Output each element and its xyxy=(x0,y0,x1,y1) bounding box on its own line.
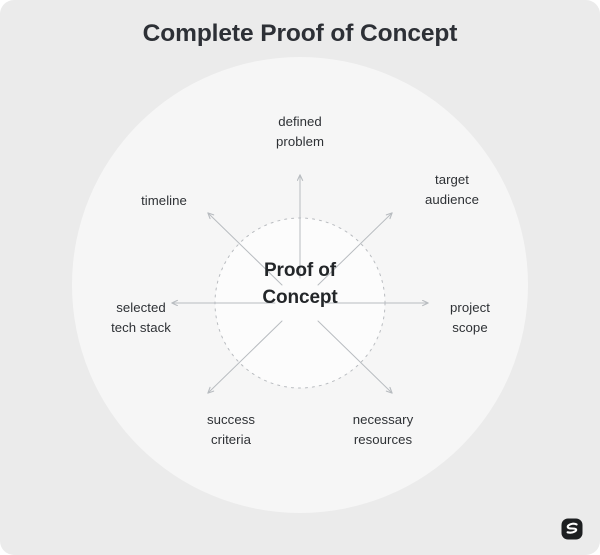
node-label-selected-tech-stack: selected tech stack xyxy=(78,298,204,337)
node-label-necessary-resources: necessary resources xyxy=(320,410,446,449)
brand-logo-icon xyxy=(560,517,584,541)
node-label-target-audience: target audience xyxy=(396,170,508,209)
node-label-timeline: timeline xyxy=(106,191,222,211)
node-label-success-criteria: success criteria xyxy=(168,410,294,449)
poster-card: Complete Proof of Concept Proof of Conce… xyxy=(0,0,600,555)
node-label-defined-problem: defined problem xyxy=(240,112,360,151)
node-label-project-scope: project scope xyxy=(412,298,528,337)
center-node-label: Proof of Concept xyxy=(215,258,385,312)
